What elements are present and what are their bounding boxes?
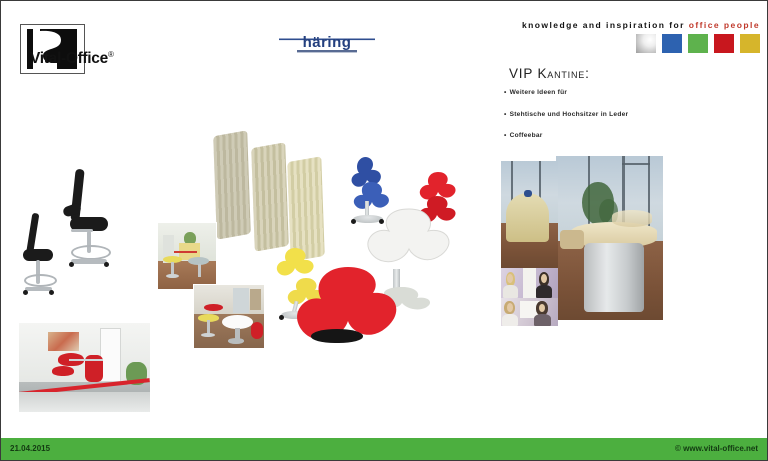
logo-wordmark: Vital-Office® [30,50,114,68]
bullet-marker: • [504,111,507,118]
list-item: •Weitere Ideen für [504,89,754,96]
tagline-prefix: knowledge and inspiration for [522,20,689,30]
counter-worktop-rear [612,210,653,226]
list-item: •Coffeebar [504,132,754,139]
acoustic-screen-panel [213,130,251,239]
chair-caster [49,290,54,295]
logo-trademark: ® [108,50,114,59]
counter-side [560,230,584,250]
wall-artwork [48,332,79,352]
coffeebar-theke-hauptfoto [556,156,663,320]
bullet-marker: • [504,89,507,96]
person-body [503,285,518,298]
table-column [198,264,201,277]
tagline-accent: office people [689,20,760,30]
glass-table [69,359,103,362]
footer-copyright[interactable]: © www.vital-office.net [675,444,758,453]
chair-base [71,259,107,264]
stehtisch-thumb-1 [157,222,217,290]
person-body [536,285,552,298]
person-head [507,303,513,312]
bullet-text: Stehtische und Hochsitzer in Leder [510,111,629,118]
chair-footring [71,245,111,260]
interior-door [100,328,120,382]
counter-accent [524,190,532,197]
window-mullion [622,163,650,165]
haering-partner-logo[interactable]: häring [279,29,375,55]
person-head [507,274,513,283]
swatch-red [714,34,734,53]
counter-base [584,243,644,312]
slide-page: Vital-Office® häring knowledge and inspi… [0,0,768,461]
red-accent-line [174,251,197,253]
chair-caster [23,290,28,295]
foreground-glass [19,392,150,412]
personen-foto-2 [501,298,558,326]
photo-collage [501,156,663,320]
svg-text:häring: häring [303,34,352,51]
header-tagline: knowledge and inspiration for office peo… [522,20,760,30]
chair-footring [24,274,57,287]
page-title: VIP Kantine: [509,66,590,81]
red-chair-seat [52,366,74,376]
swatch-gold [740,34,760,53]
interior-photo [19,323,150,412]
beige-counter [506,193,549,242]
red-chair [251,322,262,340]
chairs-product-image [13,161,125,301]
meeting-scene [501,298,558,326]
thumb-wall-panel [250,289,261,310]
bullet-text: Weitere Ideen für [510,89,568,96]
list-item: •Stehtische und Hochsitzer in Leder [504,111,754,118]
bullet-text: Coffeebar [510,132,543,139]
personen-foto-1 [501,268,558,298]
footer-bar: 21.04.2015 © www.vital-office.net [1,438,767,460]
bullet-list: •Weitere Ideen für •Stehtische und Hochs… [504,89,754,154]
person-body [502,314,518,326]
swatch-green [688,34,708,53]
person-head [541,274,547,283]
person-head [539,304,545,312]
footer-date: 21.04.2015 [10,444,50,453]
table-base [228,338,245,344]
acoustic-screen-panel [287,156,324,261]
chair-caster [69,262,74,267]
brand-color-swatches [636,34,760,53]
acoustic-screen-panel [251,142,289,251]
swatch-silver [636,34,656,53]
stehtisch-thumb-2 [193,284,265,349]
chair-caster [104,262,109,267]
logo-wordmark-text: Vital-Office [30,50,108,67]
scene-panel [523,268,537,298]
swatch-blue [662,34,682,53]
person-body [534,314,551,326]
meeting-scene [501,268,558,298]
chair-base [25,287,52,291]
chair-caster [279,315,284,320]
chair-caster [351,219,356,224]
beige-theke-foto [501,161,558,268]
thumb-window [233,288,248,313]
table-shadow-base [311,329,363,343]
bullet-marker: • [504,132,507,139]
